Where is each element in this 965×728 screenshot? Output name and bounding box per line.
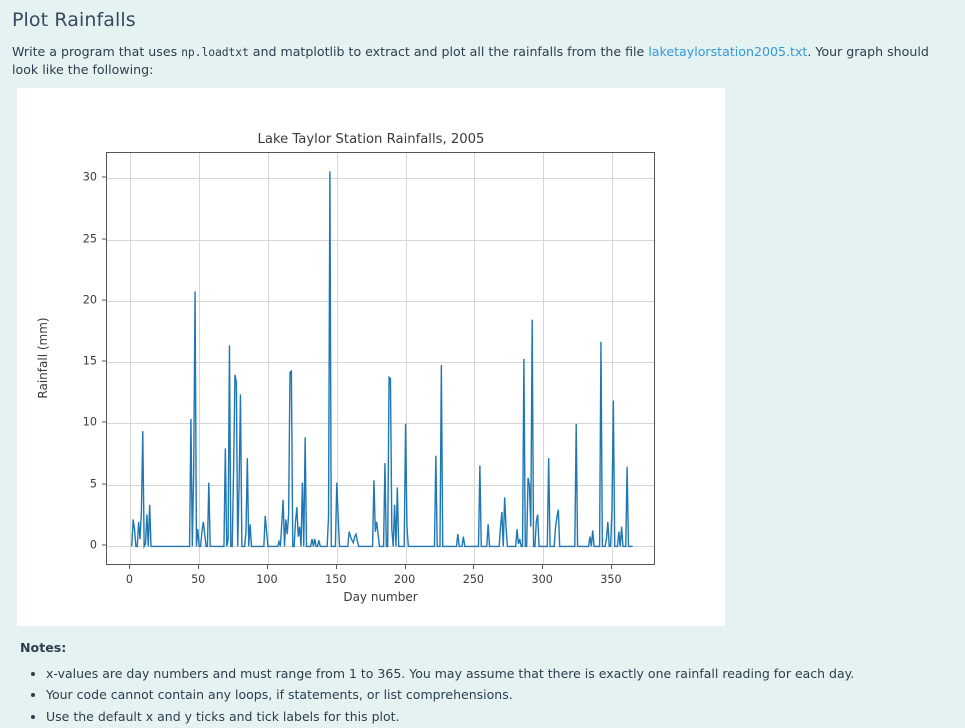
y-tick-mark <box>102 483 106 484</box>
chart-figure: Lake Taylor Station Rainfalls, 2005 Rain… <box>17 88 725 626</box>
x-tick-mark <box>129 565 130 569</box>
y-tick-label: 15 <box>83 355 97 368</box>
intro-text-middle: and matplotlib to extract and plot all t… <box>249 44 649 59</box>
inline-code-loadtxt: np.loadtxt <box>181 45 249 59</box>
y-tick-label: 30 <box>83 171 97 184</box>
x-tick-label: 250 <box>463 573 484 586</box>
notes-list: x-values are day numbers and must range … <box>20 665 955 728</box>
x-tick-mark <box>542 565 543 569</box>
x-tick-label: 0 <box>126 573 133 586</box>
y-tick-mark <box>102 422 106 423</box>
y-tick-mark <box>102 544 106 545</box>
page-title: Plot Rainfalls <box>12 9 955 31</box>
x-tick-label: 350 <box>600 573 621 586</box>
rainfall-line-path <box>132 171 633 546</box>
page-root: Plot Rainfalls Write a program that uses… <box>0 0 965 728</box>
y-tick-mark <box>102 361 106 362</box>
note-item: Use the default x and y ticks and tick l… <box>46 708 955 727</box>
y-tick-mark <box>102 299 106 300</box>
y-tick-mark <box>102 177 106 178</box>
chart-title: Lake Taylor Station Rainfalls, 2005 <box>17 132 725 147</box>
y-tick-label: 25 <box>83 232 97 245</box>
x-tick-mark <box>405 565 406 569</box>
y-tick-mark <box>102 238 106 239</box>
y-tick-label: 5 <box>90 477 97 490</box>
rainfall-line-series <box>107 153 655 565</box>
y-tick-label: 0 <box>90 538 97 551</box>
x-tick-label: 50 <box>191 573 205 586</box>
data-file-link[interactable]: laketaylorstation2005.txt <box>648 44 807 59</box>
x-axis-label: Day number <box>106 590 655 604</box>
x-tick-mark <box>611 565 612 569</box>
plot-area <box>106 152 655 565</box>
x-tick-mark <box>473 565 474 569</box>
y-tick-label: 20 <box>83 293 97 306</box>
x-tick-label: 100 <box>256 573 277 586</box>
x-tick-label: 200 <box>394 573 415 586</box>
x-tick-label: 300 <box>531 573 552 586</box>
x-tick-mark <box>198 565 199 569</box>
y-axis-label: Rainfall (mm) <box>36 317 50 398</box>
intro-paragraph: Write a program that uses np.loadtxt and… <box>12 43 955 80</box>
x-tick-label: 150 <box>325 573 346 586</box>
x-tick-mark <box>336 565 337 569</box>
note-item: Your code cannot contain any loops, if s… <box>46 686 955 705</box>
notes-heading: Notes: <box>20 640 955 655</box>
y-tick-label: 10 <box>83 416 97 429</box>
intro-text-before: Write a program that uses <box>12 44 181 59</box>
note-item: x-values are day numbers and must range … <box>46 665 955 684</box>
x-tick-mark <box>267 565 268 569</box>
